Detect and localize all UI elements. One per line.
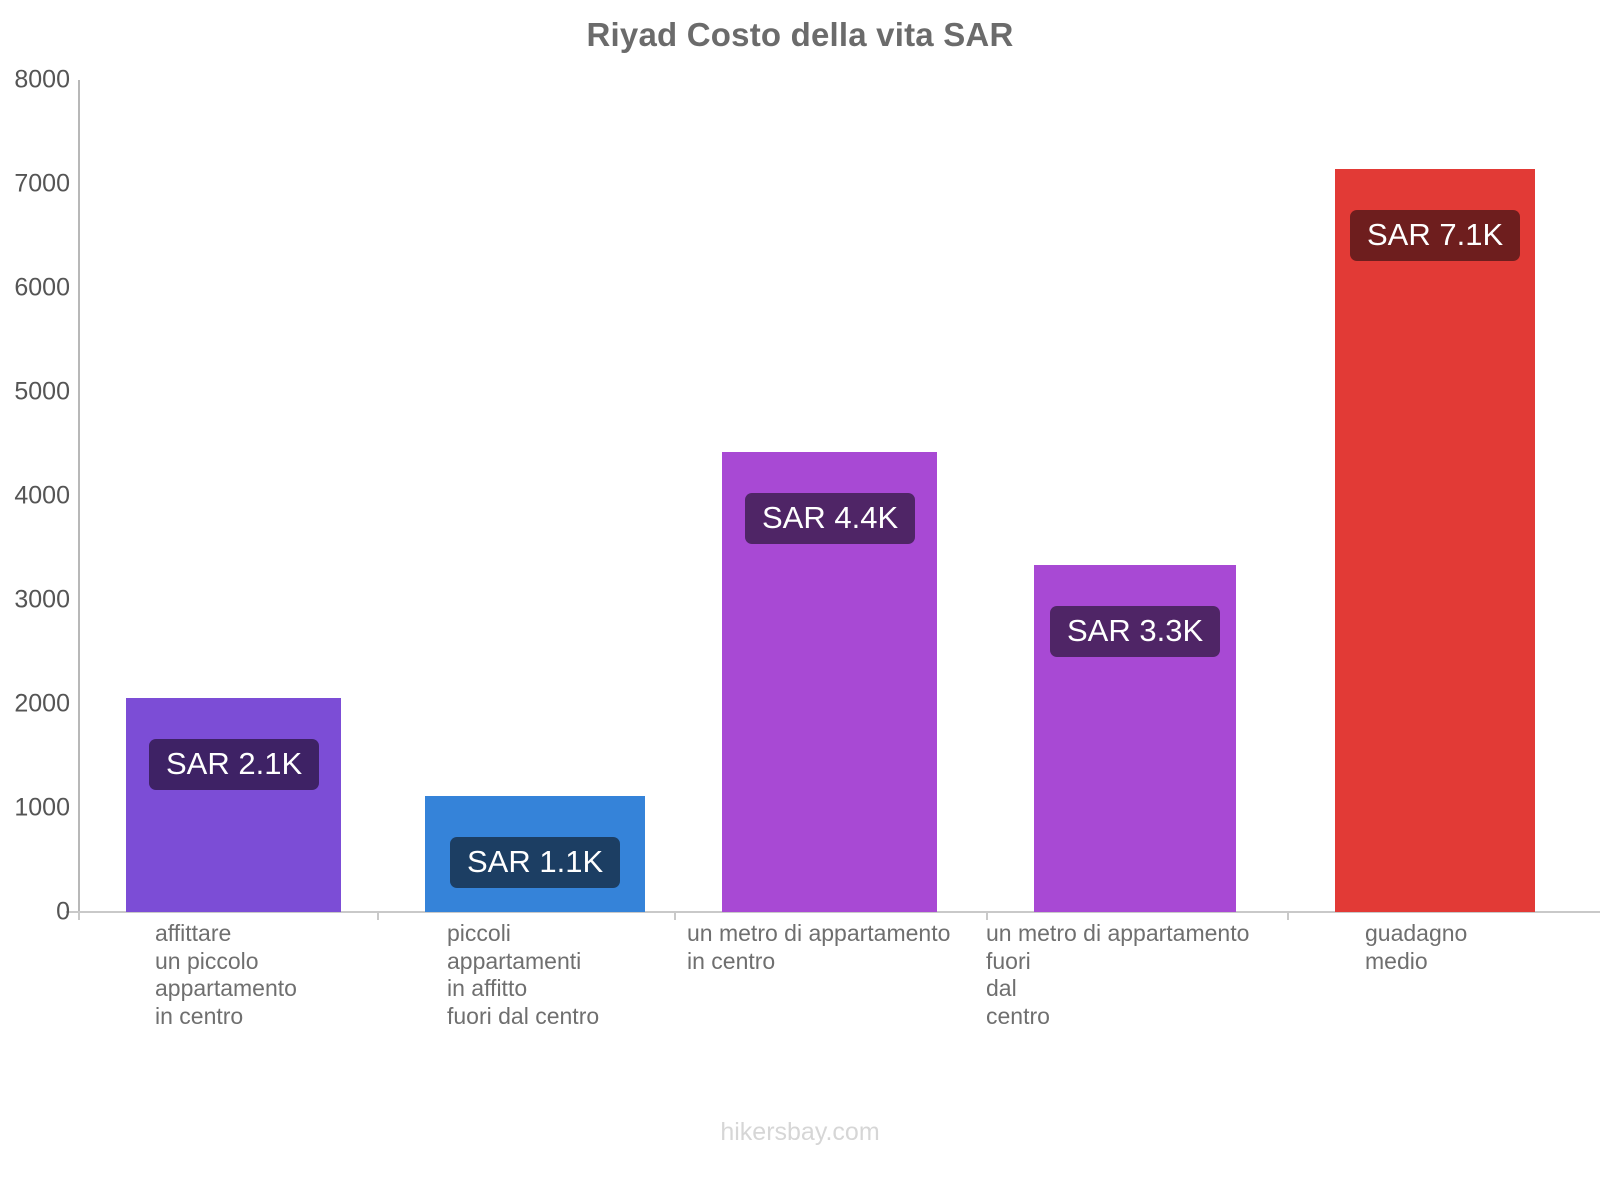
bars-layer: SAR 2.1KSAR 1.1KSAR 4.4KSAR 3.3KSAR 7.1K (0, 0, 1600, 912)
x-axis-category-label: guadagno medio (1365, 920, 1467, 975)
bar-value-badge: SAR 2.1K (149, 739, 319, 790)
x-axis-tick (78, 911, 80, 920)
x-axis-category-label: piccoli appartamenti in affitto fuori da… (447, 920, 599, 1030)
x-axis-tick (986, 911, 988, 920)
x-axis-category-labels: affittare un piccolo appartamento in cen… (0, 920, 1600, 1050)
x-axis-tick (1287, 911, 1289, 920)
bar[interactable] (126, 698, 341, 912)
x-axis-category-label: affittare un piccolo appartamento in cen… (155, 920, 297, 1030)
bar-value-badge: SAR 7.1K (1350, 210, 1520, 261)
x-axis-tick (674, 911, 676, 920)
bar-value-badge: SAR 3.3K (1050, 606, 1220, 657)
bar[interactable] (1335, 169, 1535, 912)
x-axis-tick (377, 911, 379, 920)
x-axis-category-label: un metro di appartamento fuori dal centr… (986, 920, 1249, 1030)
bar-value-badge: SAR 4.4K (745, 493, 915, 544)
bar-value-badge: SAR 1.1K (450, 837, 620, 888)
cost-of-living-bar-chart: Riyad Costo della vita SAR 0100020003000… (0, 0, 1600, 1200)
watermark-footer: hikersbay.com (0, 1118, 1600, 1147)
x-axis-category-label: un metro di appartamento in centro (687, 920, 950, 975)
